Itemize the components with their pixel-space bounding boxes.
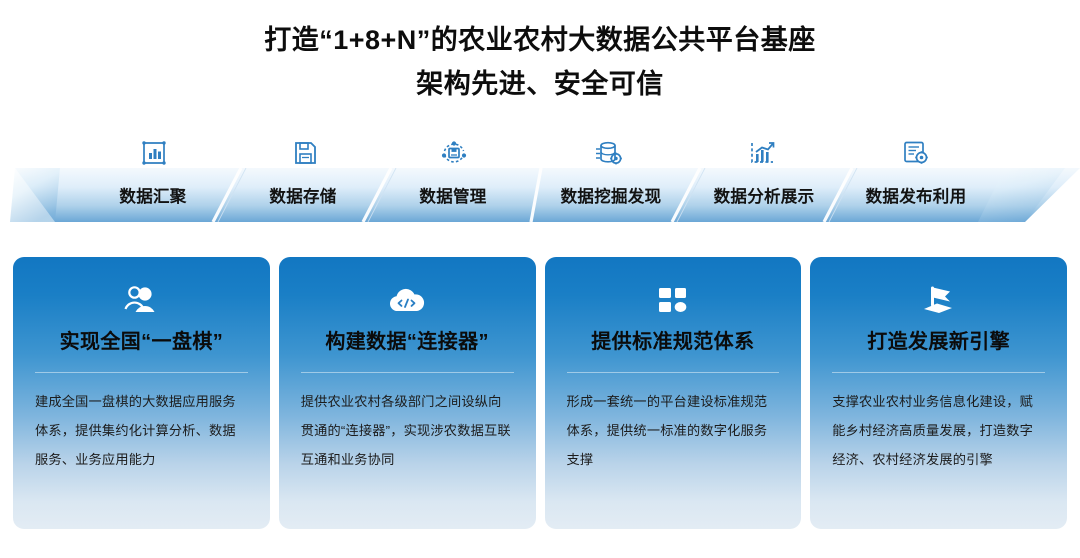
- feature-card-3[interactable]: 打造发展新引擎 支撑农业农村业务信息化建设，赋能乡村经济高质量发展，打造数字经济…: [810, 257, 1067, 529]
- ribbon-icon-row: [0, 136, 1080, 170]
- ribbon-segment-0[interactable]: 数据汇聚: [88, 168, 218, 222]
- card-title-1: 构建数据“连接器”: [279, 325, 536, 354]
- card-body-1: 提供农业农村各级部门之间设纵向贯通的“连接器”，实现涉农数据互联互通和业务协同: [301, 387, 514, 474]
- database-gear-icon: [592, 136, 626, 170]
- title-line-2: 架构先进、安全可信: [0, 62, 1080, 106]
- ribbon-segment-4[interactable]: 数据分析展示: [688, 168, 840, 222]
- ribbon-segment-5[interactable]: 数据发布利用: [840, 168, 992, 222]
- ribbon-label-0: 数据汇聚: [119, 183, 186, 207]
- slide-canvas: 打造“1+8+N”的农业农村大数据公共平台基座 架构先进、安全可信: [0, 0, 1080, 558]
- ribbon-segment-3[interactable]: 数据挖掘发现: [535, 168, 687, 222]
- card-title-0: 实现全国“一盘棋”: [13, 325, 270, 354]
- screen-gear-icon: [898, 136, 932, 170]
- feature-card-1[interactable]: 构建数据“连接器” 提供农业农村各级部门之间设纵向贯通的“连接器”，实现涉农数据…: [279, 257, 536, 529]
- cloud-code-icon: [279, 283, 536, 317]
- ribbon-label-3: 数据挖掘发现: [561, 183, 662, 207]
- feature-card-2[interactable]: 提供标准规范体系 形成一套统一的平台建设标准规范体系，提供统一标准的数字化服务支…: [545, 257, 802, 529]
- trending-chart-icon: [745, 136, 779, 170]
- ribbon-segment-2[interactable]: 数据管理: [388, 168, 518, 222]
- card-divider-0: [35, 372, 248, 373]
- user-database-circle-icon: [437, 136, 471, 170]
- ribbon-label-2: 数据管理: [419, 183, 486, 207]
- users-icon: [13, 283, 270, 317]
- card-divider-3: [832, 372, 1045, 373]
- card-title-2: 提供标准规范体系: [545, 325, 802, 354]
- flag-icon: [810, 283, 1067, 317]
- ribbon-label-4: 数据分析展示: [714, 183, 815, 207]
- card-body-0: 建成全国一盘棋的大数据应用服务体系，提供集约化计算分析、数据服务、业务应用能力: [35, 387, 248, 474]
- bar-chart-frame-icon: [137, 136, 171, 170]
- ribbon-label-5: 数据发布利用: [866, 183, 967, 207]
- feature-card-row: 实现全国“一盘棋” 建成全国一盘棋的大数据应用服务体系，提供集约化计算分析、数据…: [13, 257, 1067, 529]
- floppy-save-icon: [288, 136, 322, 170]
- ribbon-label-1: 数据存储: [269, 183, 336, 207]
- grid-blocks-icon: [545, 283, 802, 317]
- feature-card-0[interactable]: 实现全国“一盘棋” 建成全国一盘棋的大数据应用服务体系，提供集约化计算分析、数据…: [13, 257, 270, 529]
- card-body-2: 形成一套统一的平台建设标准规范体系，提供统一标准的数字化服务支撑: [567, 387, 780, 474]
- ribbon-segment-1[interactable]: 数据存储: [238, 168, 368, 222]
- card-title-3: 打造发展新引擎: [810, 325, 1067, 354]
- page-title: 打造“1+8+N”的农业农村大数据公共平台基座 架构先进、安全可信: [0, 18, 1080, 106]
- card-body-3: 支撑农业农村业务信息化建设，赋能乡村经济高质量发展，打造数字经济、农村经济发展的…: [832, 387, 1045, 474]
- card-divider-2: [567, 372, 780, 373]
- card-divider-1: [301, 372, 514, 373]
- title-line-1: 打造“1+8+N”的农业农村大数据公共平台基座: [0, 18, 1080, 62]
- process-ribbon: 数据汇聚 数据存储 数据管理 数据挖掘发现 数据分析展示 数据发布利用: [0, 168, 1080, 222]
